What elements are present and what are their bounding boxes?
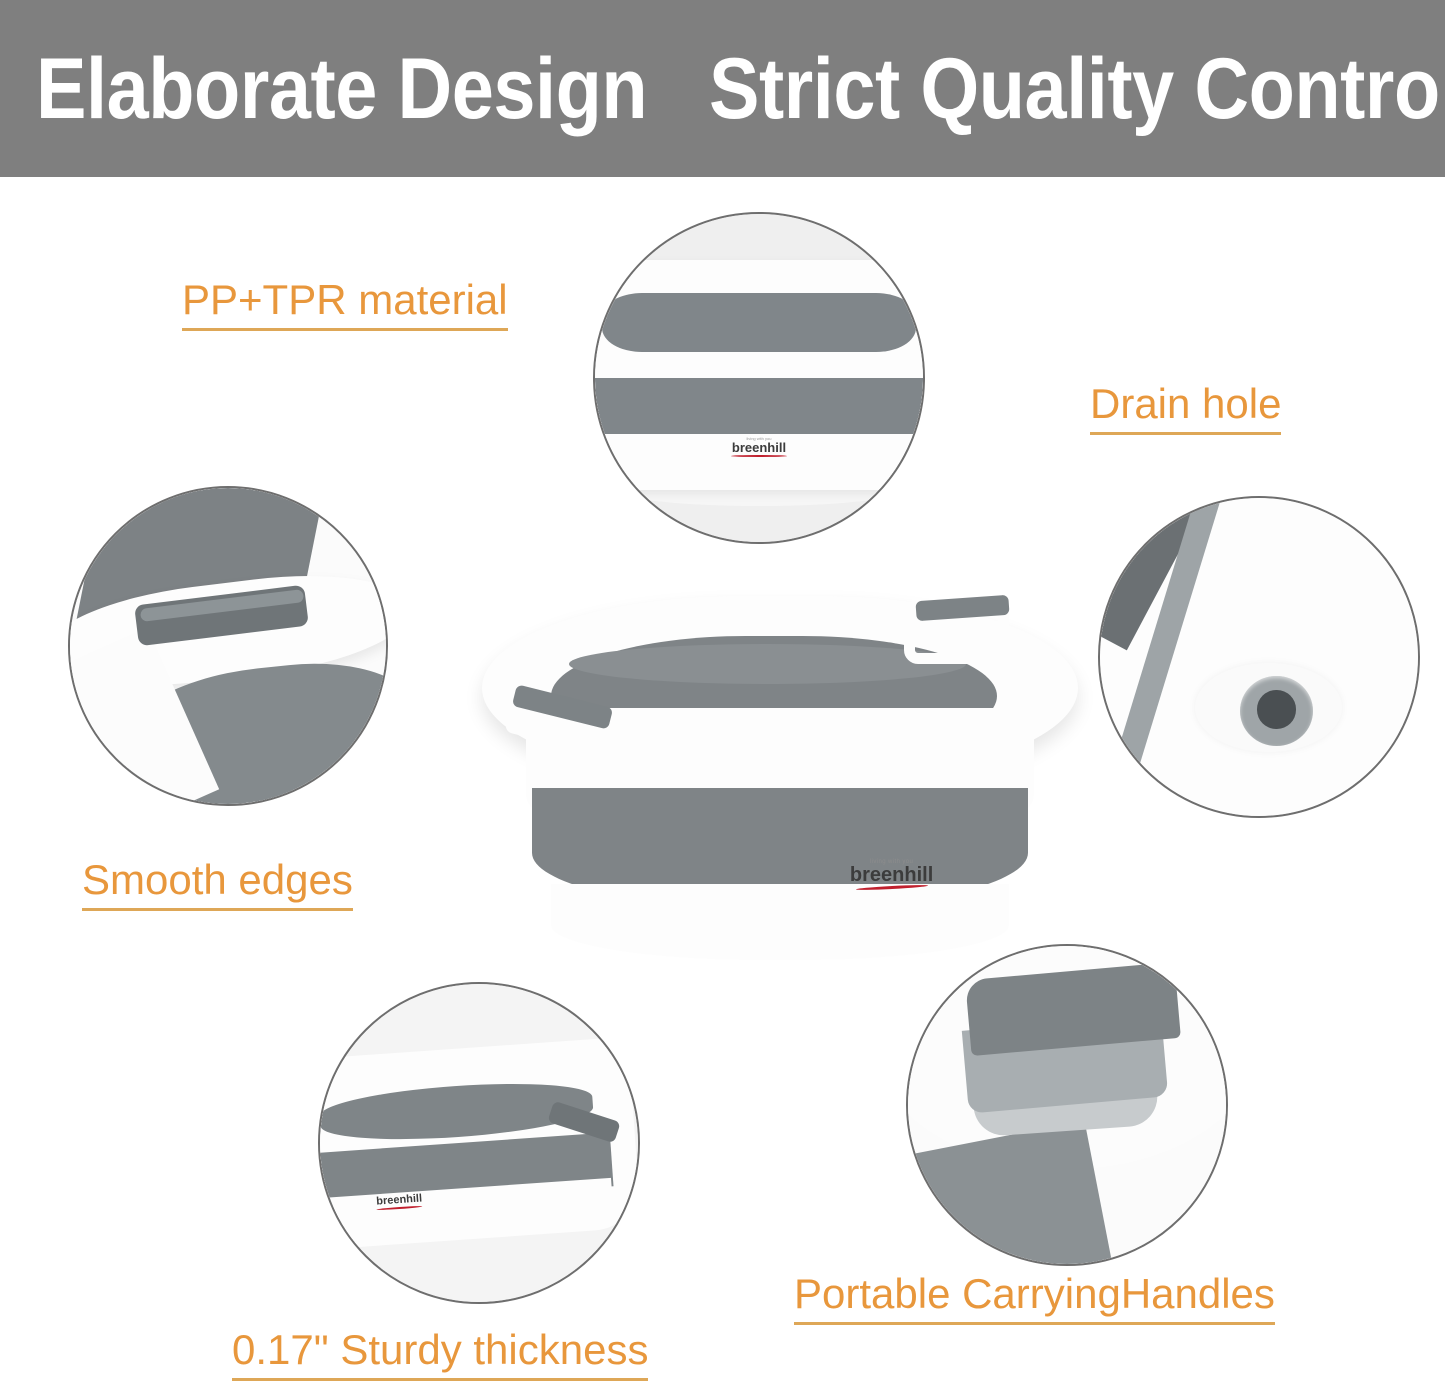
inset-artwork-carrying-handles	[908, 946, 1226, 1264]
basket-base	[551, 884, 1010, 960]
basket-tpr-band	[595, 378, 923, 434]
brand-swoosh-icon	[731, 455, 786, 457]
infographic-page: Elaborate Design Strict Quality Control …	[0, 0, 1445, 1388]
feature-label-smooth-edges: Smooth edges	[82, 858, 353, 911]
feature-label-sturdy-thickness: 0.17" Sturdy thickness	[232, 1328, 648, 1381]
hero-product-image: living with you breenhill	[470, 580, 1090, 980]
basket-interior	[602, 293, 917, 352]
inset-artwork-drain-hole	[1100, 498, 1418, 816]
brand-logo: living with you breenhill	[710, 430, 808, 463]
inset-artwork-material: living with you breenhill	[595, 214, 923, 542]
feature-inset-smooth-edges	[68, 486, 388, 806]
brand-logo: breenhill	[357, 1185, 441, 1219]
feature-inset-drain-hole	[1098, 496, 1420, 818]
feature-label-carrying-handles: Portable CarryingHandles	[794, 1272, 1275, 1325]
feature-label-drain-hole: Drain hole	[1090, 382, 1281, 435]
feature-inset-carrying-handles	[906, 944, 1228, 1266]
feature-label-material: PP+TPR material	[182, 278, 508, 331]
drain-hole-opening	[1257, 690, 1295, 728]
page-title: Elaborate Design Strict Quality Control	[36, 46, 1445, 132]
feature-inset-sturdy-thickness: breenhill	[318, 982, 640, 1304]
brand-name: breenhill	[732, 441, 786, 454]
feature-inset-material: living with you breenhill	[593, 212, 925, 544]
brand-logo: living with you breenhill	[830, 856, 954, 892]
brand-name: breenhill	[850, 865, 933, 885]
header-banner: Elaborate Design Strict Quality Control	[0, 0, 1445, 177]
inset-artwork-smooth-edges	[70, 488, 386, 804]
inset-artwork-sturdy-thickness: breenhill	[320, 984, 638, 1302]
